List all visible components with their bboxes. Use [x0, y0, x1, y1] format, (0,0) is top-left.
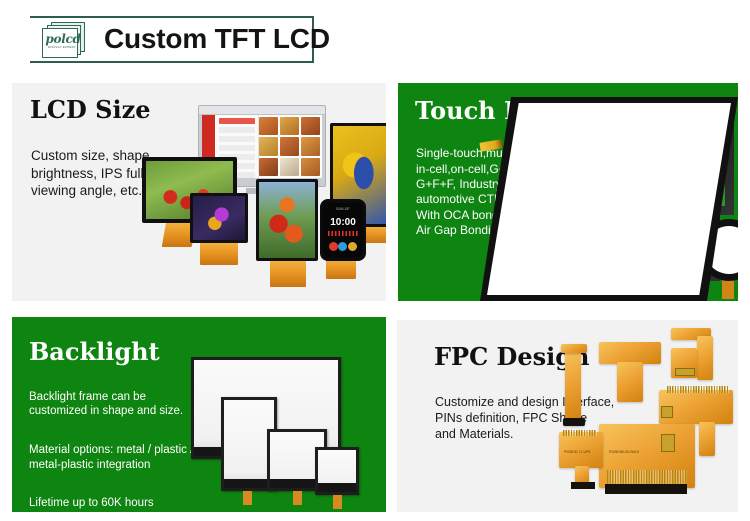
touch-panel-collage — [480, 97, 738, 301]
smartwatch-screen: SUN 18° 10:00 — [323, 203, 363, 257]
logo-tagline: DISPLAY EXPERT — [42, 45, 82, 49]
small-lcd-module — [190, 193, 248, 243]
fpc-flex-02-stem — [617, 362, 643, 402]
backlight-text-3: Lifetime up to 60K hours — [29, 496, 209, 511]
fpc-flex-03-pad — [671, 348, 697, 378]
portrait-lcd-screen — [259, 182, 315, 258]
panel-backlight-heading: Backlight — [29, 337, 160, 366]
fpc-flex-04-contact — [605, 484, 687, 494]
brand-logo: polcd DISPLAY EXPERT — [37, 22, 95, 58]
fpc-flex-05-label: P028HD-71-UP5 — [564, 450, 590, 454]
panel-lcd-size-heading: LCD Size — [30, 95, 151, 124]
fpc-flex-04-label: P028H08-05 0W15 — [609, 450, 639, 454]
backlight-text-2: Material options: metal / plastic / meta… — [29, 443, 209, 472]
flat-touch-panel — [480, 97, 564, 141]
panel-fpc-design: FPC Design Customize and design Interfac… — [397, 320, 738, 512]
smartwatch-metric-rings — [329, 240, 356, 252]
smartwatch-status-label: SUN 18° — [323, 207, 363, 211]
backlight-unit-mini — [315, 447, 359, 495]
header-banner: polcd DISPLAY EXPERT Custom TFT LCD — [0, 0, 750, 78]
panel-touch-panel: Touch Panel Single-touch,multi-touch, in… — [398, 83, 738, 301]
logo-wordmark: polcd — [43, 32, 83, 46]
portrait-lcd-module — [256, 179, 318, 261]
backlight-unit-mini-tail — [333, 495, 342, 509]
fpc-flex-06-stem — [699, 422, 715, 456]
fpc-flex-01-head — [561, 344, 587, 353]
page-title: Custom TFT LCD — [104, 23, 330, 55]
fpc-flex-03-stem — [697, 336, 713, 380]
small-lcd-fpc-tail — [200, 241, 238, 265]
fpc-flex-05-contact — [571, 482, 595, 489]
fpc-flex-01-contact — [563, 418, 585, 426]
stylus-pen-icon — [479, 139, 502, 152]
panel-backlight: Backlight Backlight frame can be customi… — [12, 317, 386, 512]
smartwatch-waveform-icon — [328, 231, 358, 236]
panel-lcd-size: LCD Size Custom size, shape, brightness,… — [12, 83, 386, 301]
backlight-unit-small-tail — [293, 491, 302, 505]
fpc-flex-circuits-collage: P028H08-05 0W15 P028HD-71-UP5 — [559, 324, 737, 510]
backlight-unit-medium-tail — [243, 491, 252, 505]
backlight-units-collage — [187, 341, 386, 509]
fpc-flex-05: P028HD-71-UP5 — [559, 432, 603, 468]
small-lcd-screen — [193, 196, 245, 240]
fpc-flex-04: P028H08-05 0W15 — [599, 424, 695, 488]
smartwatch-lcd-module: SUN 18° 10:00 — [320, 199, 366, 261]
fpc-flex-06 — [659, 390, 733, 424]
fpc-flex-01 — [565, 350, 581, 420]
pos-monitor-titlebar — [199, 106, 325, 115]
lcd-display-collage: SUN 18° 10:00 — [142, 95, 386, 301]
backlight-text-1: Backlight frame can be customized in sha… — [29, 390, 209, 419]
smartwatch-time: 10:00 — [323, 217, 363, 228]
panel-backlight-body: Backlight frame can be customized in sha… — [29, 375, 209, 512]
fpc-flex-02 — [599, 342, 661, 364]
pos-food-grid — [259, 117, 320, 176]
portrait-lcd-fpc-tail — [270, 259, 306, 287]
